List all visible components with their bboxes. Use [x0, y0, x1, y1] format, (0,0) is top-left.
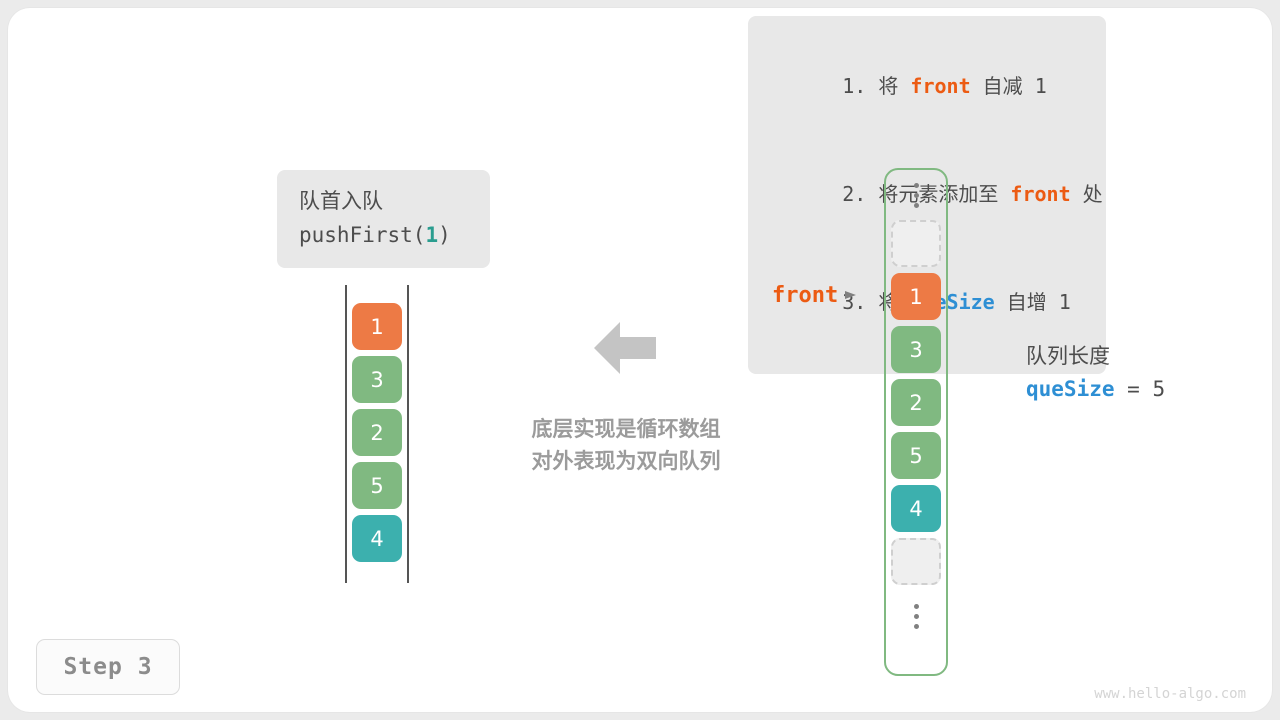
dot	[914, 203, 919, 208]
operation-label-box: 队首入队 pushFirst(1)	[277, 170, 490, 268]
diagram-canvas: 1. 将 front 自减 1 2. 将元素添加至 front 处 3. 将 q…	[0, 0, 1280, 720]
operation-code-suffix: )	[438, 223, 451, 247]
operation-code-argument: 1	[425, 223, 438, 247]
logical-deque-cells: 1 3 2 5 4	[352, 303, 402, 562]
quesize-title: 队列长度	[1026, 340, 1165, 373]
deque-cell: 5	[352, 462, 402, 509]
center-caption: 底层实现是循环数组 对外表现为双向队列	[498, 413, 754, 477]
quesize-code: queSize = 5	[1026, 373, 1165, 406]
step-badge: Step 3	[36, 639, 180, 695]
instruction-line-2-suffix: 处	[1071, 182, 1103, 206]
center-caption-line-2: 对外表现为双向队列	[498, 445, 754, 477]
watermark: www.hello-algo.com	[1094, 686, 1246, 702]
instruction-line-3-suffix: 自增 1	[995, 290, 1071, 314]
quesize-annotation: 队列长度 queSize = 5	[1026, 340, 1165, 406]
operation-code: pushFirst(1)	[299, 218, 468, 252]
circular-array: 1 3 2 5 4	[884, 168, 948, 676]
array-empty-slot	[891, 538, 941, 585]
array-cell: 5	[891, 432, 941, 479]
logical-deque: 1 3 2 5 4	[345, 285, 409, 583]
quesize-value: = 5	[1115, 377, 1166, 401]
quesize-variable: queSize	[1026, 377, 1115, 401]
array-cell: 1	[891, 273, 941, 320]
array-filled-cells: 1 3 2 5 4	[891, 273, 941, 532]
ellipsis-bottom-icon	[914, 591, 919, 641]
deque-cell: 1	[352, 303, 402, 350]
step-badge-label: Step 3	[63, 654, 152, 680]
instruction-line-1: 1. 将 front 自减 1	[770, 32, 1084, 140]
dot	[914, 604, 919, 609]
array-cell: 2	[891, 379, 941, 426]
dot	[914, 193, 919, 198]
array-cell: 3	[891, 326, 941, 373]
deque-cell: 2	[352, 409, 402, 456]
front-pointer: front	[772, 283, 859, 308]
left-arrow-icon	[594, 320, 656, 380]
deque-cell: 3	[352, 356, 402, 403]
array-cell: 4	[891, 485, 941, 532]
dot	[914, 624, 919, 629]
instruction-line-2-keyword: front	[1010, 182, 1070, 206]
array-empty-slot	[891, 220, 941, 267]
deque-cell: 4	[352, 515, 402, 562]
instruction-line-1-keyword: front	[910, 74, 970, 98]
dot	[914, 183, 919, 188]
operation-title: 队首入队	[299, 184, 468, 218]
center-caption-line-1: 底层实现是循环数组	[498, 413, 754, 445]
dot	[914, 614, 919, 619]
instruction-line-1-suffix: 自减 1	[971, 74, 1047, 98]
instruction-line-1-prefix: 1. 将	[842, 74, 910, 98]
ellipsis-top-icon	[914, 170, 919, 220]
front-pointer-label: front	[772, 283, 838, 308]
deque-rail-right	[407, 285, 409, 583]
deque-rail-left	[345, 285, 347, 583]
front-pointer-arrow-icon	[845, 286, 859, 305]
operation-code-prefix: pushFirst(	[299, 223, 425, 247]
